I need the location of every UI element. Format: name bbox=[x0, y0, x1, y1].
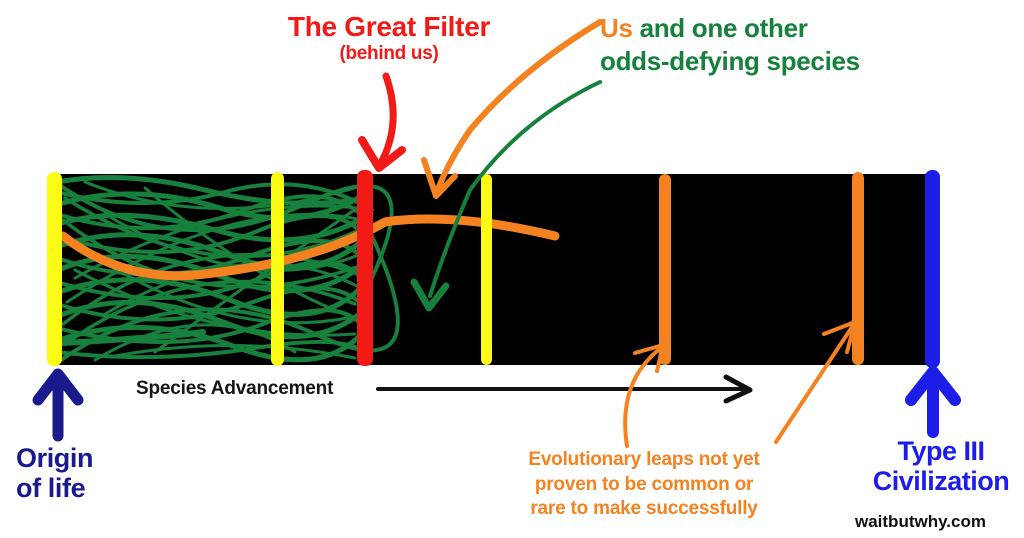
origin-of-life-bar bbox=[47, 172, 62, 366]
great-filter-arrow bbox=[362, 76, 402, 168]
great-filter-title-line1: The Great Filter bbox=[288, 11, 490, 42]
us-species-title: Us and one other odds-defying species bbox=[600, 12, 900, 77]
type-iii-line1: Type III bbox=[897, 436, 984, 466]
evolutionary-leaps-line1: Evolutionary leaps not yet bbox=[528, 449, 759, 470]
origin-of-life-arrow bbox=[38, 374, 78, 436]
us-title-line2: odds-defying species bbox=[600, 46, 860, 76]
evolutionary-leaps-line3: rare to make successfully bbox=[530, 498, 757, 519]
type-iii-line2: Civilization bbox=[873, 466, 1010, 496]
type-iii-civilization-bar bbox=[925, 170, 940, 368]
diagram-canvas: The Great Filter (behind us) Us and one … bbox=[0, 0, 1024, 538]
unproven-leap-bar-1 bbox=[659, 174, 671, 365]
origin-of-life-line2: of life bbox=[16, 473, 85, 503]
origin-of-life-label: Origin of life bbox=[16, 444, 146, 503]
great-filter-title: The Great Filter (behind us) bbox=[274, 12, 504, 64]
evolutionary-leaps-caption: Evolutionary leaps not yet proven to be … bbox=[496, 448, 792, 522]
species-advancement-arrow bbox=[378, 377, 750, 401]
great-filter-bar bbox=[357, 170, 373, 366]
type-iii-label: Type III Civilization bbox=[858, 436, 1024, 496]
type-iii-arrow bbox=[911, 372, 955, 432]
us-title-rest-line1: and one other bbox=[633, 13, 808, 43]
evolutionary-leaps-line2: proven to be common or bbox=[535, 474, 753, 495]
watermark: waitbutwhy.com bbox=[855, 512, 986, 532]
great-filter-title-line2: (behind us) bbox=[274, 44, 504, 64]
us-milestone-bar bbox=[481, 174, 492, 365]
unproven-leap-bar-2 bbox=[852, 172, 864, 365]
species-advancement-label: Species Advancement bbox=[136, 378, 333, 400]
us-highlight: Us bbox=[600, 13, 633, 43]
early-milestone-bar bbox=[271, 172, 284, 366]
origin-of-life-line1: Origin bbox=[16, 443, 93, 473]
